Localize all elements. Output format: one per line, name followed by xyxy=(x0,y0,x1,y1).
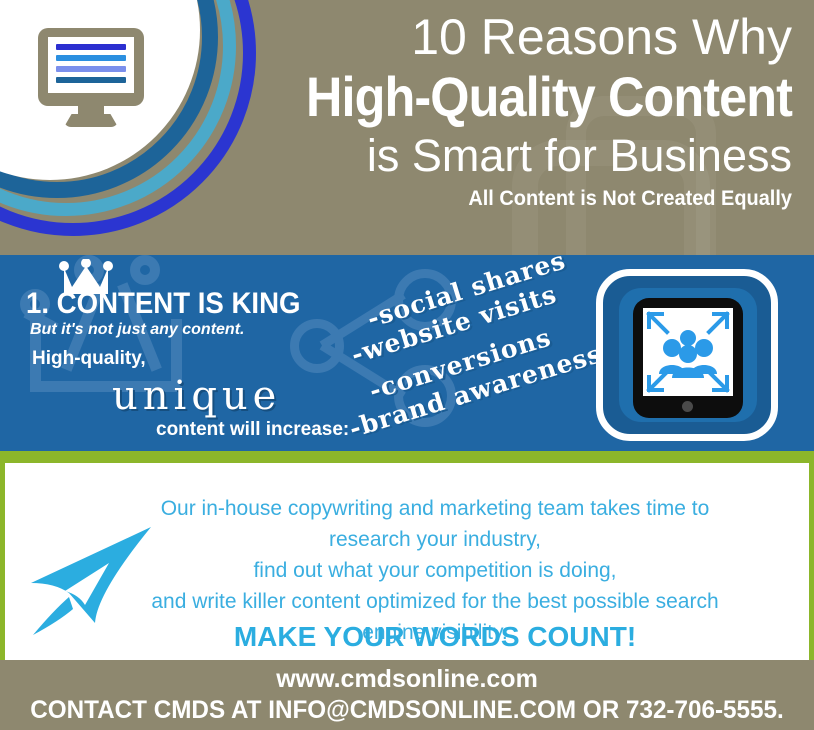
tablet-with-audience-icon xyxy=(596,269,778,441)
footer-website-link[interactable]: www.cmdsonline.com xyxy=(0,665,814,694)
reason-line-3: content will increase: xyxy=(156,419,349,441)
green-divider xyxy=(0,451,814,463)
monitor-base xyxy=(64,114,118,127)
monitor-bar-4 xyxy=(56,77,126,83)
reason-heading: 1. CONTENT IS KING xyxy=(26,287,300,321)
body-paragraph-line: research your industry, xyxy=(125,524,745,555)
monitor-bar-2 xyxy=(56,55,126,61)
footer-section: www.cmdsonline.com CONTACT CMDS AT INFO@… xyxy=(0,660,814,730)
reason-section: 1. CONTENT IS KING But it's not just any… xyxy=(0,255,814,451)
header-title-block: 10 Reasons Why High-Quality Content is S… xyxy=(232,8,792,214)
body-section: Our in-house copywriting and marketing t… xyxy=(0,463,814,660)
tablet-body xyxy=(633,298,743,418)
tablet-screen xyxy=(643,308,733,396)
page-title-line-3: is Smart for Business xyxy=(232,128,792,184)
desktop-monitor-icon xyxy=(38,28,144,106)
page-title-line-1: 10 Reasons Why xyxy=(232,8,792,66)
page-subtitle: All Content is Not Created Equally xyxy=(260,184,792,214)
header-section: 10 Reasons Why High-Quality Content is S… xyxy=(0,0,814,255)
reason-highlight-word: unique xyxy=(112,373,281,419)
reason-line-2: High-quality, xyxy=(32,348,146,370)
body-paragraph-line: find out what your competition is doing, xyxy=(125,555,745,586)
monitor-bar-1 xyxy=(56,44,126,50)
infographic-root: 10 Reasons Why High-Quality Content is S… xyxy=(0,0,814,730)
tablet-home-button xyxy=(682,401,693,412)
monitor-screen xyxy=(48,37,134,93)
body-paragraph-line: and write killer content optimized for t… xyxy=(125,586,745,617)
body-paragraph-line: Our in-house copywriting and marketing t… xyxy=(125,493,745,524)
call-to-action-text: MAKE YOUR WORDS COUNT! xyxy=(125,621,745,653)
monitor-bar-3 xyxy=(56,66,126,72)
footer-contact-text[interactable]: CONTACT CMDS AT INFO@CMDSONLINE.COM OR 7… xyxy=(12,696,802,725)
audience-group-icon xyxy=(643,308,733,396)
page-title-line-2: High-Quality Content xyxy=(288,66,792,128)
reason-line-1: But it's not just any content. xyxy=(30,321,244,339)
